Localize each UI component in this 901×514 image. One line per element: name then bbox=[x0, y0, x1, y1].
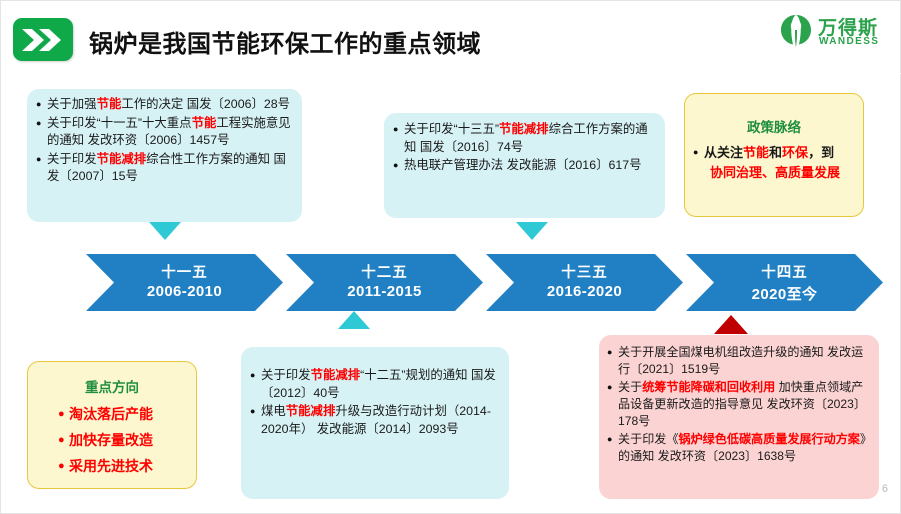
timeline-name: 十四五 bbox=[686, 261, 883, 282]
list-item: 采用先进技术 bbox=[58, 454, 196, 479]
timeline-chevron-14th[interactable]: 十四五 2020至今 bbox=[686, 254, 883, 311]
connector-triangle-up-14th bbox=[714, 315, 748, 334]
list-item: 关于印发节能减排“十二五”规划的通知 国发〔2012〕40号 bbox=[250, 367, 504, 402]
policy-list-11th: 关于加强节能工作的决定 国发〔2006〕28号关于印发“十一五”十大重点节能工程… bbox=[27, 89, 302, 186]
policy-context-box: 政策脉络 从关注节能和环保，到协同治理、高质量发展 bbox=[684, 93, 864, 217]
policy-context-title: 政策脉络 bbox=[685, 116, 863, 136]
header-badge bbox=[13, 18, 73, 61]
policy-box-13th-five-year: 关于印发“十三五”节能减排综合工作方案的通知 国发〔2016〕74号热电联产管理… bbox=[384, 113, 665, 218]
timeline-name: 十一五 bbox=[86, 261, 283, 282]
timeline-chevron-13th[interactable]: 十三五 2016-2020 bbox=[486, 254, 683, 311]
text-run: 和 bbox=[769, 145, 782, 160]
list-item: 加快存量改造 bbox=[58, 428, 196, 453]
text-run: 从关注 bbox=[704, 145, 743, 160]
policy-list-12th: 关于印发节能减排“十二五”规划的通知 国发〔2012〕40号煤电节能减排升级与改… bbox=[241, 347, 509, 438]
text-run: 关于加强 bbox=[47, 97, 97, 111]
list-item: 从关注节能和环保，到 bbox=[693, 143, 857, 162]
list-item: 热电联产管理办法 发改能源〔2016〕617号 bbox=[393, 157, 659, 175]
policy-box-14th-five-year: 关于开展全国煤电机组改造升级的通知 发改运行〔2021〕1519号关于统筹节能降… bbox=[599, 335, 879, 499]
key-directions-box: 重点方向 淘汰落后产能加快存量改造采用先进技术 bbox=[27, 361, 197, 489]
text-run: 节能减排 bbox=[97, 152, 147, 166]
list-item: 关于加强节能工作的决定 国发〔2006〕28号 bbox=[36, 96, 295, 114]
policy-list-14th: 关于开展全国煤电机组改造升级的通知 发改运行〔2021〕1519号关于统筹节能降… bbox=[599, 335, 879, 465]
text-run: 协同治理、高质量发展 bbox=[710, 165, 840, 180]
text-run: 煤电 bbox=[261, 404, 286, 418]
timeline-chevron-12th[interactable]: 十二五 2011-2015 bbox=[286, 254, 483, 311]
list-item: 煤电节能减排升级与改造行动计划（2014-2020年） 发改能源〔2014〕20… bbox=[250, 403, 504, 438]
list-item: 关于印发《锅炉绿色低碳高质量发展行动方案》的通知 发改环资〔2023〕1638号 bbox=[607, 431, 874, 465]
wandess-leaf-logo-icon bbox=[778, 13, 814, 49]
text-run: 节能 bbox=[97, 97, 122, 111]
page-number: 6 bbox=[882, 483, 888, 495]
timeline-years: 2006-2010 bbox=[86, 283, 283, 300]
text-run: 节能减排 bbox=[499, 122, 549, 136]
list-item: 关于印发“十一五”十大重点节能工程实施意见的通知 发改环资〔2006〕1457号 bbox=[36, 115, 295, 150]
connector-triangle-up-12th bbox=[338, 311, 370, 329]
text-run: 统筹节能降碳和回收利用 bbox=[642, 380, 775, 394]
text-run: 关于印发 bbox=[47, 152, 97, 166]
text-run: 关于 bbox=[618, 380, 642, 394]
text-run: 节能 bbox=[743, 145, 769, 160]
slide-root: 锅炉是我国节能环保工作的重点领域 万得斯 WANDESS 关于加强节能工作的决定… bbox=[0, 0, 901, 514]
text-run: 工作的决定 国发〔2006〕28号 bbox=[121, 97, 290, 111]
text-run: 关于印发“十一五”十大重点 bbox=[47, 116, 192, 130]
text-run: 热电联产管理办法 发改能源〔2016〕617号 bbox=[404, 158, 642, 172]
list-item: 淘汰落后产能 bbox=[58, 402, 196, 427]
header-divider bbox=[1, 73, 901, 74]
text-run: 关于印发“十三五” bbox=[404, 122, 499, 136]
list-item: 关于印发“十三五”节能减排综合工作方案的通知 国发〔2016〕74号 bbox=[393, 121, 659, 156]
text-run: 关于印发 bbox=[261, 368, 311, 382]
key-directions-title: 重点方向 bbox=[28, 376, 196, 396]
text-run: 关于印发《 bbox=[618, 432, 678, 446]
timeline-years: 2011-2015 bbox=[286, 283, 483, 300]
list-item: 协同治理、高质量发展 bbox=[693, 163, 857, 182]
text-run: 环保 bbox=[782, 145, 808, 160]
text-run: 锅炉绿色低碳高质量发展行动方案 bbox=[678, 432, 859, 446]
timeline-years: 2016-2020 bbox=[486, 283, 683, 300]
policy-box-11th-five-year: 关于加强节能工作的决定 国发〔2006〕28号关于印发“十一五”十大重点节能工程… bbox=[27, 89, 302, 222]
key-directions-list: 淘汰落后产能加快存量改造采用先进技术 bbox=[28, 402, 196, 479]
policy-list-13th: 关于印发“十三五”节能减排综合工作方案的通知 国发〔2016〕74号热电联产管理… bbox=[384, 113, 665, 175]
policy-box-12th-five-year: 关于印发节能减排“十二五”规划的通知 国发〔2012〕40号煤电节能减排升级与改… bbox=[241, 347, 509, 499]
brand-logo: 万得斯 WANDESS bbox=[778, 11, 890, 55]
connector-triangle-down-11th bbox=[149, 222, 181, 240]
list-item: 关于开展全国煤电机组改造升级的通知 发改运行〔2021〕1519号 bbox=[607, 344, 874, 378]
timeline-name: 十二五 bbox=[286, 261, 483, 282]
list-item: 关于印发节能减排综合性工作方案的通知 国发〔2007〕15号 bbox=[36, 151, 295, 186]
timeline-name: 十三五 bbox=[486, 261, 683, 282]
text-run: 节能 bbox=[192, 116, 217, 130]
text-run: 节能减排 bbox=[286, 404, 336, 418]
policy-context-list: 从关注节能和环保，到协同治理、高质量发展 bbox=[685, 143, 863, 182]
logo-en-text: WANDESS bbox=[819, 36, 879, 47]
connector-triangle-down-13th bbox=[516, 222, 548, 240]
list-item: 关于统筹节能降碳和回收利用 加快重点领域产品设备更新改造的指导意见 发改环资〔2… bbox=[607, 379, 874, 430]
timeline-years: 2020至今 bbox=[686, 283, 883, 304]
text-run: 节能减排 bbox=[311, 368, 361, 382]
text-run: ，到 bbox=[808, 145, 834, 160]
page-title: 锅炉是我国节能环保工作的重点领域 bbox=[89, 24, 481, 59]
text-run: 关于开展全国煤电机组改造升级的通知 发改运行〔2021〕1519号 bbox=[618, 345, 863, 376]
timeline-chevron-11th[interactable]: 十一五 2006-2010 bbox=[86, 254, 283, 311]
